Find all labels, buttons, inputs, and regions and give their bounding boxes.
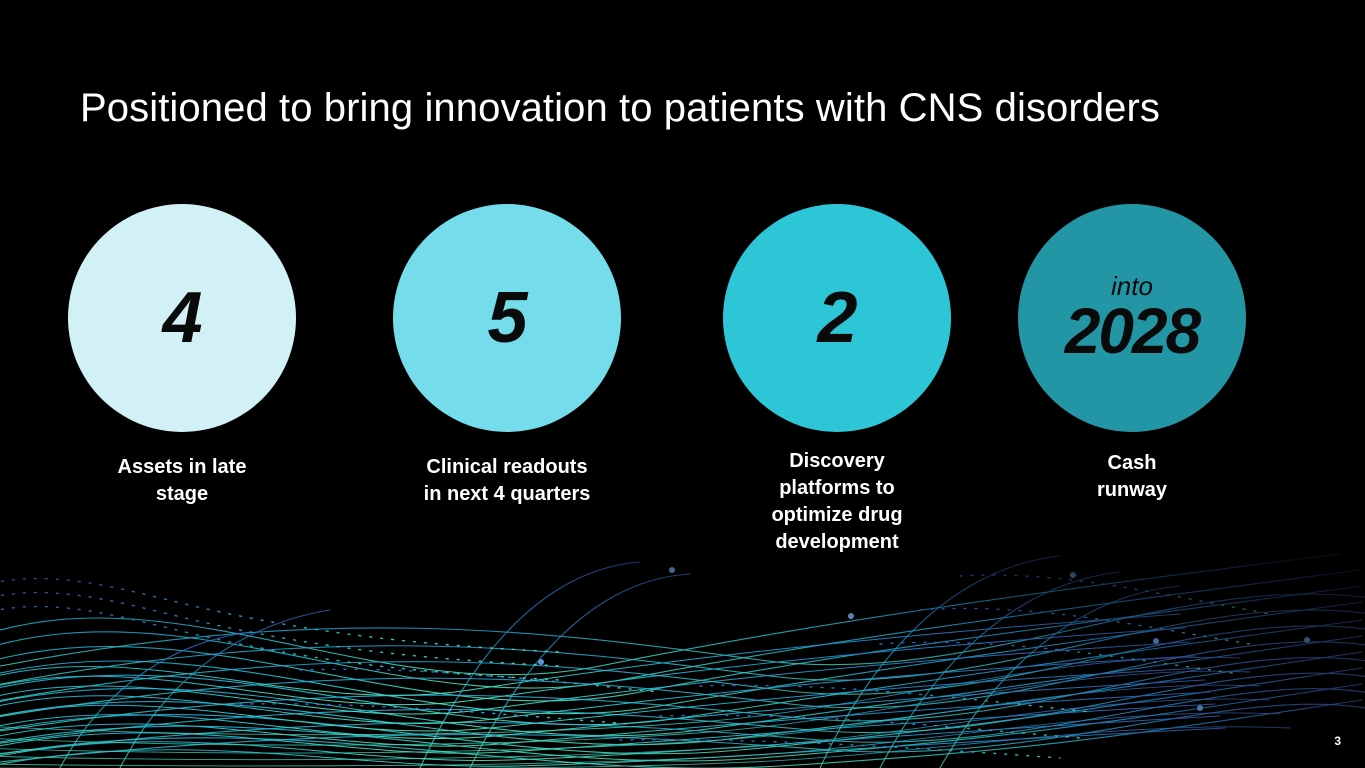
stat-label-assets: Assets in late stage	[37, 454, 327, 508]
stat-item-assets: 4 Assets in late stage	[37, 200, 327, 508]
stat-item-platforms: 2 Discovery platforms to optimize drug d…	[692, 200, 982, 556]
stat-value-cash-runway: 2028	[1065, 298, 1199, 364]
stat-value-readouts: 5	[487, 281, 526, 355]
stat-label-readouts: Clinical readouts in next 4 quarters	[362, 454, 652, 508]
stat-item-readouts: 5 Clinical readouts in next 4 quarters	[362, 200, 652, 508]
page-title: Positioned to bring innovation to patien…	[80, 83, 1300, 133]
stat-label-cash-runway: Cash runway	[987, 450, 1277, 504]
stat-item-cash-runway: into 2028 Cash runway	[987, 200, 1277, 504]
stat-value-assets: 4	[162, 281, 201, 355]
stat-circle-platforms: 2	[723, 204, 951, 432]
slide-canvas: Positioned to bring innovation to patien…	[0, 0, 1365, 768]
stat-circle-readouts: 5	[393, 204, 621, 432]
stats-row: 4 Assets in late stage 5 Clinical readou…	[0, 200, 1365, 560]
page-number: 3	[1334, 734, 1341, 748]
stat-circle-assets: 4	[68, 204, 296, 432]
wave-mesh-decoration	[0, 540, 1365, 768]
stat-label-platforms: Discovery platforms to optimize drug dev…	[692, 448, 982, 556]
stat-circle-cash-runway: into 2028	[1018, 204, 1246, 432]
stat-value-platforms: 2	[817, 281, 856, 355]
